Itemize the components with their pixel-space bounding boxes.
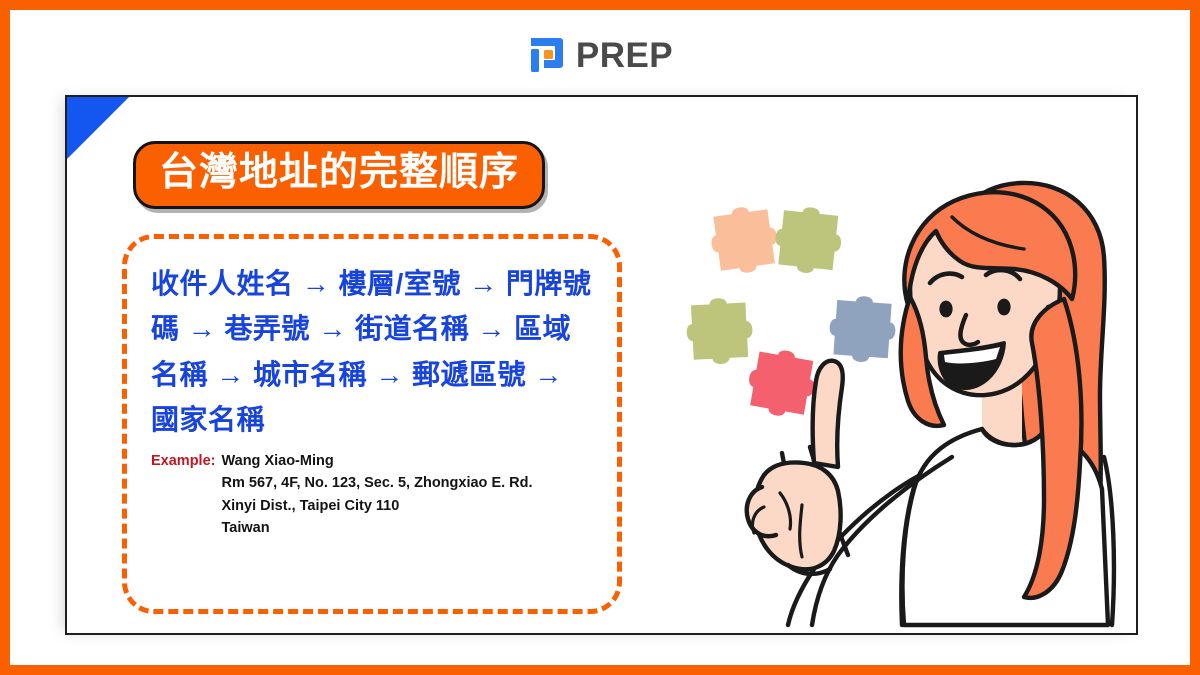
corner-accent-triangle xyxy=(67,97,129,159)
brand-wordmark: PREP xyxy=(576,38,673,73)
puzzle-piece-olive-left xyxy=(685,297,754,366)
brand-header: PREP xyxy=(10,27,1190,83)
example-line: Xinyi Dist., Taipei City 110 xyxy=(221,495,532,517)
page-title: 台灣地址的完整順序 xyxy=(159,151,519,195)
title-banner: 台灣地址的完整順序 xyxy=(133,141,545,209)
slide-orange-frame: PREP xyxy=(0,0,1200,675)
puzzle-piece-peach xyxy=(707,203,781,277)
example-label: Example: xyxy=(151,450,215,472)
prep-logo-icon xyxy=(527,35,567,75)
puzzle-pieces-group xyxy=(627,112,927,437)
example-line: Wang Xiao-Ming xyxy=(221,450,532,472)
slide-canvas: PREP xyxy=(10,10,1190,665)
example-line: Taiwan xyxy=(221,517,532,539)
example-block: Example: Wang Xiao-Ming Rm 567, 4F, No. … xyxy=(151,450,599,538)
puzzle-piece-pink xyxy=(744,345,820,421)
example-line: Rm 567, 4F, No. 123, Sec. 5, Zhongxiao E… xyxy=(221,472,532,494)
woman-pointing-up-illustration xyxy=(652,157,1138,635)
puzzle-piece-olive-top xyxy=(772,204,844,276)
example-address-lines: Wang Xiao-Ming Rm 567, 4F, No. 123, Sec.… xyxy=(221,450,532,538)
address-sequence-text: 收件人姓名 → 樓層/室號 → 門牌號碼 → 巷弄號 → 街道名稱 → 區域名稱… xyxy=(151,261,599,442)
puzzle-piece-blue-gray xyxy=(827,294,897,364)
address-order-box: 收件人姓名 → 樓層/室號 → 門牌號碼 → 巷弄號 → 街道名稱 → 區域名稱… xyxy=(122,234,622,614)
content-card: 台灣地址的完整順序 收件人姓名 → 樓層/室號 → 門牌號碼 → 巷弄號 → 街… xyxy=(65,95,1138,635)
